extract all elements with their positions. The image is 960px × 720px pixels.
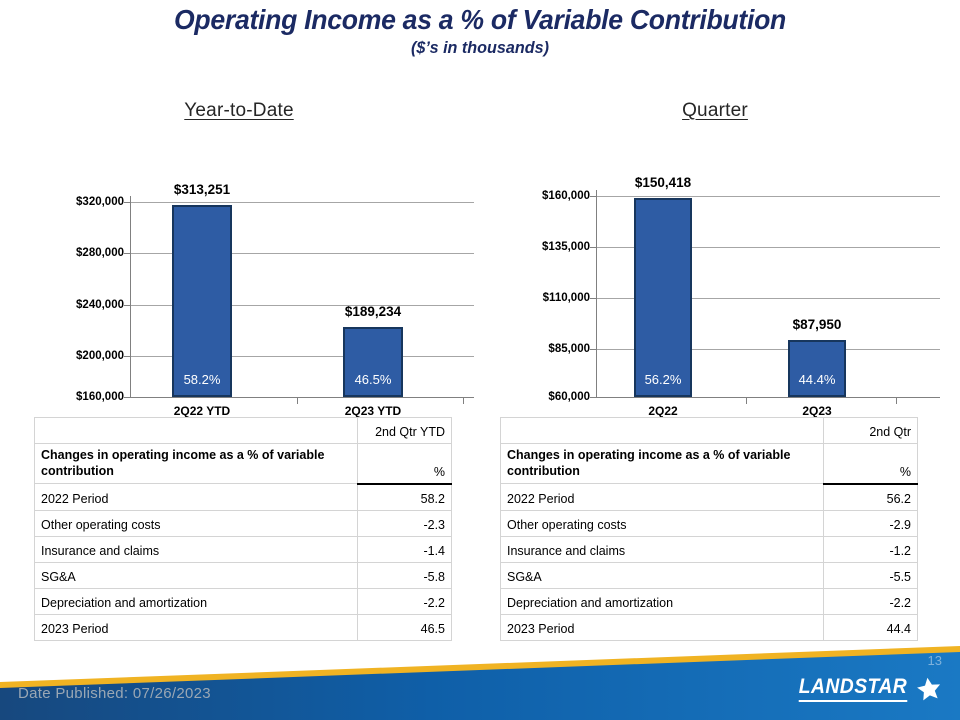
table-cell-label: Depreciation and amortization xyxy=(35,588,358,614)
y-tick-label: $135,000 xyxy=(500,241,590,253)
table-row-header-period: 2nd Qtr xyxy=(501,418,918,444)
table-header-description: Changes in operating income as a % of va… xyxy=(501,444,824,484)
chart-title-quarter: Quarter xyxy=(500,100,940,122)
table-row-header-period: 2nd Qtr YTD xyxy=(35,418,452,444)
footer: Date Published: 07/26/2023 13 LANDSTAR xyxy=(0,640,960,720)
y-axis-tick xyxy=(124,305,130,306)
table-cell-value: -2.9 xyxy=(824,510,918,536)
title-block: Operating Income as a % of Variable Cont… xyxy=(0,4,960,59)
logo-wordmark: LANDSTAR xyxy=(799,675,908,702)
y-axis-tick xyxy=(590,247,596,248)
table-row: 2022 Period 58.2 xyxy=(35,484,452,511)
landstar-logo: LANDSTAR xyxy=(794,675,942,702)
star-icon xyxy=(916,676,942,702)
bar-percent-label: 56.2% xyxy=(636,372,690,387)
y-axis-tick xyxy=(124,253,130,254)
y-axis-labels-ytd: $320,000 $280,000 $240,000 $200,000 $160… xyxy=(34,126,124,376)
plot-area-ytd: 58.2% $313,251 46.5% $189,234 2Q22 YTD 2… xyxy=(130,126,474,376)
bar-percent-label: 46.5% xyxy=(345,372,401,387)
y-tick-label: $110,000 xyxy=(500,292,590,304)
table-cell-label: Other operating costs xyxy=(501,510,824,536)
x-axis-tick xyxy=(746,397,747,404)
y-axis-tick xyxy=(590,349,596,350)
slide-number: 13 xyxy=(928,653,942,668)
table-header-period: 2nd Qtr xyxy=(824,418,918,444)
table-cell-label: SG&A xyxy=(501,562,824,588)
bar-2q23[interactable]: 44.4% xyxy=(788,340,846,397)
x-axis-line xyxy=(130,397,474,398)
table-cell-value: -5.8 xyxy=(358,562,452,588)
table-cell-label: 2022 Period xyxy=(35,484,358,511)
bar-percent-label: 58.2% xyxy=(174,372,230,387)
x-category-label: 2Q23 YTD xyxy=(323,404,423,418)
table-row-header-desc: Changes in operating income as a % of va… xyxy=(35,444,452,484)
table-cell-value: -1.4 xyxy=(358,536,452,562)
date-published: Date Published: 07/26/2023 xyxy=(18,685,211,702)
chart-title-ytd: Year-to-Date xyxy=(34,100,474,122)
table-cell-value: -2.3 xyxy=(358,510,452,536)
bar-value-label: $313,251 xyxy=(152,182,252,197)
table-row: 2023 Period 46.5 xyxy=(35,614,452,640)
y-axis-tick xyxy=(590,298,596,299)
y-tick-label: $240,000 xyxy=(34,299,124,311)
y-axis-tick xyxy=(124,356,130,357)
y-tick-label: $85,000 xyxy=(500,343,590,355)
x-axis-tick xyxy=(463,397,464,404)
table-cell-label: 2023 Period xyxy=(35,614,358,640)
table-cell-label: SG&A xyxy=(35,562,358,588)
y-tick-label: $200,000 xyxy=(34,350,124,362)
table-row: Depreciation and amortization -2.2 xyxy=(501,588,918,614)
bar-2q22-ytd[interactable]: 58.2% xyxy=(172,205,232,397)
table-cell-value: -2.2 xyxy=(358,588,452,614)
y-tick-label: $280,000 xyxy=(34,247,124,259)
table-row: Other operating costs -2.3 xyxy=(35,510,452,536)
table-header-description: Changes in operating income as a % of va… xyxy=(35,444,358,484)
table-header-period: 2nd Qtr YTD xyxy=(358,418,452,444)
plot-wrap-ytd: $320,000 $280,000 $240,000 $200,000 $160… xyxy=(34,126,474,376)
y-axis-tick xyxy=(590,196,596,197)
x-category-label: 2Q22 xyxy=(613,404,713,418)
table-cell-label: 2022 Period xyxy=(501,484,824,511)
table-quarter-wrap: 2nd Qtr Changes in operating income as a… xyxy=(500,417,918,641)
table-row-header-desc: Changes in operating income as a % of va… xyxy=(501,444,918,484)
table-cell-label: Insurance and claims xyxy=(501,536,824,562)
table-cell-value: -5.5 xyxy=(824,562,918,588)
table-row: Insurance and claims -1.2 xyxy=(501,536,918,562)
table-cell-value: -2.2 xyxy=(824,588,918,614)
table-row: 2022 Period 56.2 xyxy=(501,484,918,511)
bar-value-label: $189,234 xyxy=(323,304,423,319)
y-axis-line xyxy=(130,196,131,397)
table-cell-label: Other operating costs xyxy=(35,510,358,536)
y-tick-label: $160,000 xyxy=(500,190,590,202)
table-header-unit: % xyxy=(358,444,452,484)
table-cell-value: 56.2 xyxy=(824,484,918,511)
table-ytd-wrap: 2nd Qtr YTD Changes in operating income … xyxy=(34,417,452,641)
table-cell-label: Insurance and claims xyxy=(35,536,358,562)
plot-wrap-quarter: $160,000 $135,000 $110,000 $85,000 $60,0… xyxy=(500,126,940,376)
table-row: Other operating costs -2.9 xyxy=(501,510,918,536)
y-axis-tick xyxy=(124,202,130,203)
page-subtitle: ($’s in thousands) xyxy=(24,38,936,58)
chart-panel-quarter: Quarter $160,000 $135,000 $110,000 $85,0… xyxy=(500,100,940,400)
table-cell-value: 58.2 xyxy=(358,484,452,511)
y-axis-labels-quarter: $160,000 $135,000 $110,000 $85,000 $60,0… xyxy=(500,126,590,376)
bar-2q23-ytd[interactable]: 46.5% xyxy=(343,327,403,397)
plot-area-quarter: 56.2% $150,418 44.4% $87,950 2Q22 2Q23 xyxy=(596,126,940,376)
table-cell-label: Depreciation and amortization xyxy=(501,588,824,614)
table-cell-value: 44.4 xyxy=(824,614,918,640)
slide: Operating Income as a % of Variable Cont… xyxy=(0,0,960,720)
page-title: Operating Income as a % of Variable Cont… xyxy=(24,4,936,36)
bar-2q22[interactable]: 56.2% xyxy=(634,198,692,397)
x-axis-tick xyxy=(297,397,298,404)
y-axis-line xyxy=(596,190,597,397)
y-tick-label: $160,000 xyxy=(34,391,124,403)
table-row: Depreciation and amortization -2.2 xyxy=(35,588,452,614)
gridline xyxy=(596,196,940,197)
table-row: 2023 Period 44.4 xyxy=(501,614,918,640)
table-quarter: 2nd Qtr Changes in operating income as a… xyxy=(500,417,918,641)
x-axis-line xyxy=(596,397,940,398)
table-cell-value: -1.2 xyxy=(824,536,918,562)
table-row: Insurance and claims -1.4 xyxy=(35,536,452,562)
gridline xyxy=(130,202,474,203)
table-cell-empty xyxy=(501,418,824,444)
y-tick-label: $60,000 xyxy=(500,391,590,403)
bar-value-label: $87,950 xyxy=(767,317,867,332)
table-row: SG&A -5.8 xyxy=(35,562,452,588)
table-cell-label: 2023 Period xyxy=(501,614,824,640)
table-header-unit: % xyxy=(824,444,918,484)
table-cell-empty xyxy=(35,418,358,444)
x-category-label: 2Q23 xyxy=(767,404,867,418)
x-axis-tick xyxy=(896,397,897,404)
y-tick-label: $320,000 xyxy=(34,196,124,208)
bar-value-label: $150,418 xyxy=(613,175,713,190)
bar-percent-label: 44.4% xyxy=(790,372,844,387)
x-category-label: 2Q22 YTD xyxy=(152,404,252,418)
table-cell-value: 46.5 xyxy=(358,614,452,640)
table-row: SG&A -5.5 xyxy=(501,562,918,588)
chart-panel-year-to-date: Year-to-Date $320,000 $280,000 $240,000 … xyxy=(34,100,474,400)
table-ytd: 2nd Qtr YTD Changes in operating income … xyxy=(34,417,452,641)
